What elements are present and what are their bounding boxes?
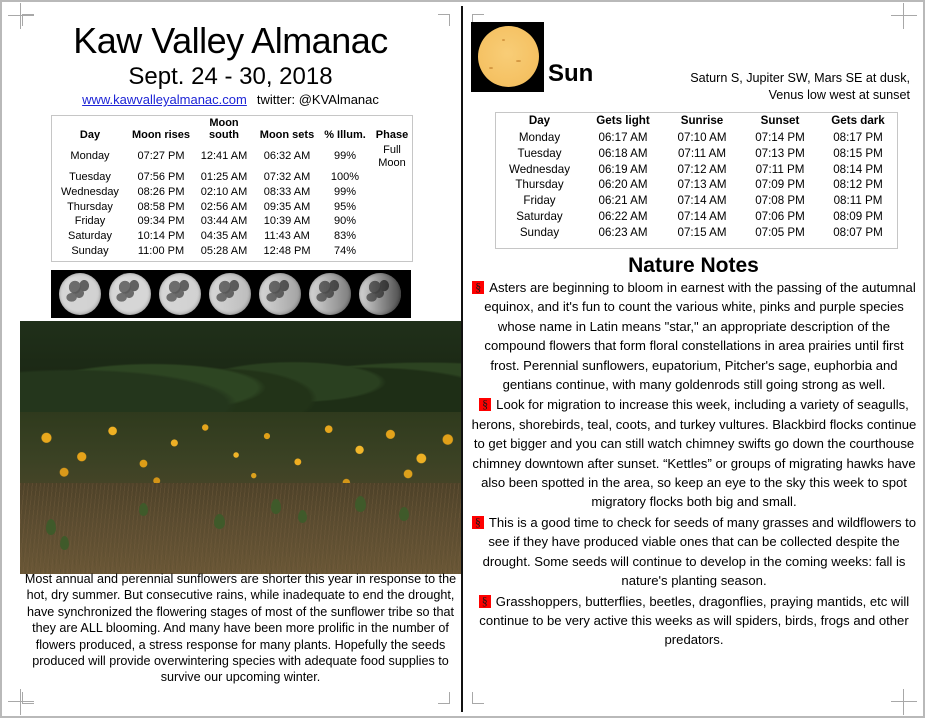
section-bullet-icon: § (472, 281, 484, 294)
sun-cell-sunset: 07:09 PM (741, 177, 819, 193)
planet-note-line-2: Venus low west at sunset (650, 87, 910, 104)
left-page: Kaw Valley Almanac Sept. 24 - 30, 2018 w… (0, 0, 461, 718)
moon-cell-sets: 08:33 AM (254, 185, 320, 200)
moon-cell-day: Thursday (52, 200, 128, 215)
moon-cell-south: 12:41 AM (194, 143, 254, 170)
sun-cell-gets-dark: 08:09 PM (819, 209, 897, 225)
nature-note-text: Asters are beginning to bloom in earnest… (484, 280, 916, 392)
table-row: Friday06:21 AM07:14 AM07:08 PM08:11 PM (496, 193, 897, 209)
sun-cell-sunset: 07:05 PM (741, 225, 819, 241)
sun-cell-sunrise: 07:12 AM (663, 162, 741, 178)
sun-cell-day: Tuesday (496, 146, 583, 162)
nature-note-text: This is a good time to check for seeds o… (483, 515, 917, 588)
sun-cell-gets-light: 06:22 AM (583, 209, 663, 225)
table-row: Wednesday06:19 AM07:12 AM07:11 PM08:14 P… (496, 162, 897, 178)
table-row: Wednesday08:26 PM02:10 AM08:33 AM99% (52, 185, 414, 200)
twitter-handle: twitter: @KVAlmanac (257, 92, 379, 107)
moon-cell-south: 03:44 AM (194, 214, 254, 229)
moon-cell-day: Monday (52, 143, 128, 170)
moon-phase-icon (309, 273, 351, 315)
table-row: Tuesday06:18 AM07:11 AM07:13 PM08:15 PM (496, 146, 897, 162)
moon-phase-strip (51, 270, 411, 318)
sun-cell-day: Thursday (496, 177, 583, 193)
moon-cell-sets: 12:48 PM (254, 244, 320, 259)
moon-phase-icon (159, 273, 201, 315)
sun-col-sunrise: Sunrise (663, 115, 741, 130)
moon-table: Day Moon rises Moonsouth Moon sets % Ill… (51, 115, 413, 262)
moon-cell-illum: 83% (320, 229, 370, 244)
page-title: Kaw Valley Almanac (0, 23, 461, 59)
sun-cell-sunrise: 07:11 AM (663, 146, 741, 162)
sun-col-gets-dark: Gets dark (819, 115, 897, 130)
sun-cell-sunrise: 07:15 AM (663, 225, 741, 241)
moon-cell-illum: 90% (320, 214, 370, 229)
moon-cell-south: 04:35 AM (194, 229, 254, 244)
nature-note-text: Look for migration to increase this week… (472, 397, 917, 509)
table-row: Sunday11:00 PM05:28 AM12:48 PM74% (52, 244, 414, 259)
moon-cell-rises: 09:34 PM (128, 214, 194, 229)
moon-cell-sets: 10:39 AM (254, 214, 320, 229)
sun-cell-sunrise: 07:10 AM (663, 130, 741, 146)
moon-phase-icon (209, 273, 251, 315)
sun-cell-gets-dark: 08:14 PM (819, 162, 897, 178)
website-link[interactable]: www.kawvalleyalmanac.com (82, 92, 247, 107)
sun-section-label: Sun (548, 62, 593, 86)
table-row: Friday09:34 PM03:44 AM10:39 AM90% (52, 214, 414, 229)
sun-cell-gets-dark: 08:07 PM (819, 225, 897, 241)
sun-cell-sunset: 07:06 PM (741, 209, 819, 225)
moon-cell-day: Friday (52, 214, 128, 229)
right-page: Sun Saturn S, Jupiter SW, Mars SE at dus… (462, 0, 925, 718)
nature-note-item: §Asters are beginning to bloom in earnes… (470, 278, 918, 394)
moon-cell-sets: 07:32 AM (254, 170, 320, 185)
sun-cell-gets-light: 06:19 AM (583, 162, 663, 178)
nature-notes-title: Nature Notes (462, 255, 925, 276)
moon-cell-phase (370, 214, 414, 229)
sunflower-prairie-photo (20, 321, 461, 574)
section-bullet-icon: § (472, 516, 484, 529)
moon-table-header-row: Day Moon rises Moonsouth Moon sets % Ill… (52, 118, 414, 143)
moon-cell-south: 02:10 AM (194, 185, 254, 200)
moon-cell-phase (370, 200, 414, 215)
moon-cell-day: Tuesday (52, 170, 128, 185)
table-row: Thursday08:58 PM02:56 AM09:35 AM95% (52, 200, 414, 215)
sun-cell-gets-dark: 08:15 PM (819, 146, 897, 162)
sun-cell-gets-dark: 08:17 PM (819, 130, 897, 146)
nature-note-item: §This is a good time to check for seeds … (470, 513, 918, 591)
sun-col-sunset: Sunset (741, 115, 819, 130)
photo-dry-grass (20, 483, 461, 574)
table-row: Thursday06:20 AM07:13 AM07:09 PM08:12 PM (496, 177, 897, 193)
sun-disc (478, 26, 539, 87)
sun-cell-sunrise: 07:13 AM (663, 177, 741, 193)
table-row: Saturday06:22 AM07:14 AM07:06 PM08:09 PM (496, 209, 897, 225)
sun-cell-gets-light: 06:17 AM (583, 130, 663, 146)
sun-cell-sunrise: 07:14 AM (663, 209, 741, 225)
sun-cell-day: Sunday (496, 225, 583, 241)
moon-col-illum: % Illum. (320, 118, 370, 143)
moon-col-south: Moonsouth (194, 118, 254, 143)
moon-cell-illum: 74% (320, 244, 370, 259)
date-range-subtitle: Sept. 24 - 30, 2018 (0, 65, 461, 89)
moon-col-day: Day (52, 118, 128, 143)
moon-col-south-line2: south (209, 129, 239, 141)
planet-visibility-note: Saturn S, Jupiter SW, Mars SE at dusk, V… (650, 70, 910, 104)
sun-cell-gets-light: 06:23 AM (583, 225, 663, 241)
moon-cell-phase (370, 229, 414, 244)
nature-note-text: Grasshoppers, butterflies, beetles, drag… (479, 594, 909, 648)
nature-note-item: §Look for migration to increase this wee… (470, 395, 918, 511)
table-row: Sunday06:23 AM07:15 AM07:05 PM08:07 PM (496, 225, 897, 241)
moon-phase-icon (259, 273, 301, 315)
contact-links: www.kawvalleyalmanac.comtwitter: @KVAlma… (0, 93, 461, 106)
moon-cell-rises: 07:56 PM (128, 170, 194, 185)
table-row: Monday07:27 PM12:41 AM06:32 AM99%Full Mo… (52, 143, 414, 170)
photo-caption: Most annual and perennial sunflowers are… (20, 571, 461, 686)
moon-col-rises: Moon rises (128, 118, 194, 143)
sun-cell-gets-dark: 08:12 PM (819, 177, 897, 193)
moon-cell-sets: 06:32 AM (254, 143, 320, 170)
moon-cell-south: 01:25 AM (194, 170, 254, 185)
moon-cell-illum: 99% (320, 185, 370, 200)
sun-cell-gets-light: 06:20 AM (583, 177, 663, 193)
moon-phase-icon (59, 273, 101, 315)
sun-table: Day Gets light Sunrise Sunset Gets dark … (495, 112, 898, 249)
moon-cell-south: 05:28 AM (194, 244, 254, 259)
moon-cell-phase (370, 170, 414, 185)
section-bullet-icon: § (479, 398, 491, 411)
moon-cell-illum: 100% (320, 170, 370, 185)
sun-col-day: Day (496, 115, 583, 130)
table-row: Tuesday07:56 PM01:25 AM07:32 AM100% (52, 170, 414, 185)
sun-cell-gets-light: 06:21 AM (583, 193, 663, 209)
moon-cell-illum: 95% (320, 200, 370, 215)
sun-cell-sunset: 07:14 PM (741, 130, 819, 146)
sun-cell-sunset: 07:11 PM (741, 162, 819, 178)
sun-cell-sunset: 07:13 PM (741, 146, 819, 162)
sun-cell-day: Wednesday (496, 162, 583, 178)
sun-cell-gets-light: 06:18 AM (583, 146, 663, 162)
sun-cell-sunrise: 07:14 AM (663, 193, 741, 209)
moon-col-south-line1: Moon (209, 117, 238, 129)
sun-col-gets-light: Gets light (583, 115, 663, 130)
moon-cell-day: Sunday (52, 244, 128, 259)
planet-note-line-1: Saturn S, Jupiter SW, Mars SE at dusk, (650, 70, 910, 87)
moon-cell-illum: 99% (320, 143, 370, 170)
nature-note-item: §Grasshoppers, butterflies, beetles, dra… (470, 592, 918, 650)
sun-cell-sunset: 07:08 PM (741, 193, 819, 209)
moon-cell-sets: 11:43 AM (254, 229, 320, 244)
sun-cell-day: Saturday (496, 209, 583, 225)
section-bullet-icon: § (479, 595, 491, 608)
moon-cell-rises: 08:26 PM (128, 185, 194, 200)
sun-photo (471, 22, 544, 92)
moon-cell-sets: 09:35 AM (254, 200, 320, 215)
moon-cell-rises: 07:27 PM (128, 143, 194, 170)
moon-col-sets: Moon sets (254, 118, 320, 143)
moon-cell-rises: 11:00 PM (128, 244, 194, 259)
sun-cell-gets-dark: 08:11 PM (819, 193, 897, 209)
moon-cell-south: 02:56 AM (194, 200, 254, 215)
moon-cell-phase (370, 244, 414, 259)
sun-cell-day: Friday (496, 193, 583, 209)
table-row: Saturday10:14 PM04:35 AM11:43 AM83% (52, 229, 414, 244)
moon-cell-day: Wednesday (52, 185, 128, 200)
moon-phase-icon (109, 273, 151, 315)
sun-table-header-row: Day Gets light Sunrise Sunset Gets dark (496, 115, 897, 130)
almanac-page: Kaw Valley Almanac Sept. 24 - 30, 2018 w… (0, 0, 925, 718)
moon-cell-rises: 08:58 PM (128, 200, 194, 215)
moon-cell-day: Saturday (52, 229, 128, 244)
moon-cell-phase: Full Moon (370, 143, 414, 170)
nature-notes-list: §Asters are beginning to bloom in earnes… (470, 278, 918, 651)
moon-phase-icon (359, 273, 401, 315)
sun-cell-day: Monday (496, 130, 583, 146)
moon-col-phase: Phase (370, 118, 414, 143)
moon-cell-phase (370, 185, 414, 200)
table-row: Monday06:17 AM07:10 AM07:14 PM08:17 PM (496, 130, 897, 146)
moon-cell-rises: 10:14 PM (128, 229, 194, 244)
